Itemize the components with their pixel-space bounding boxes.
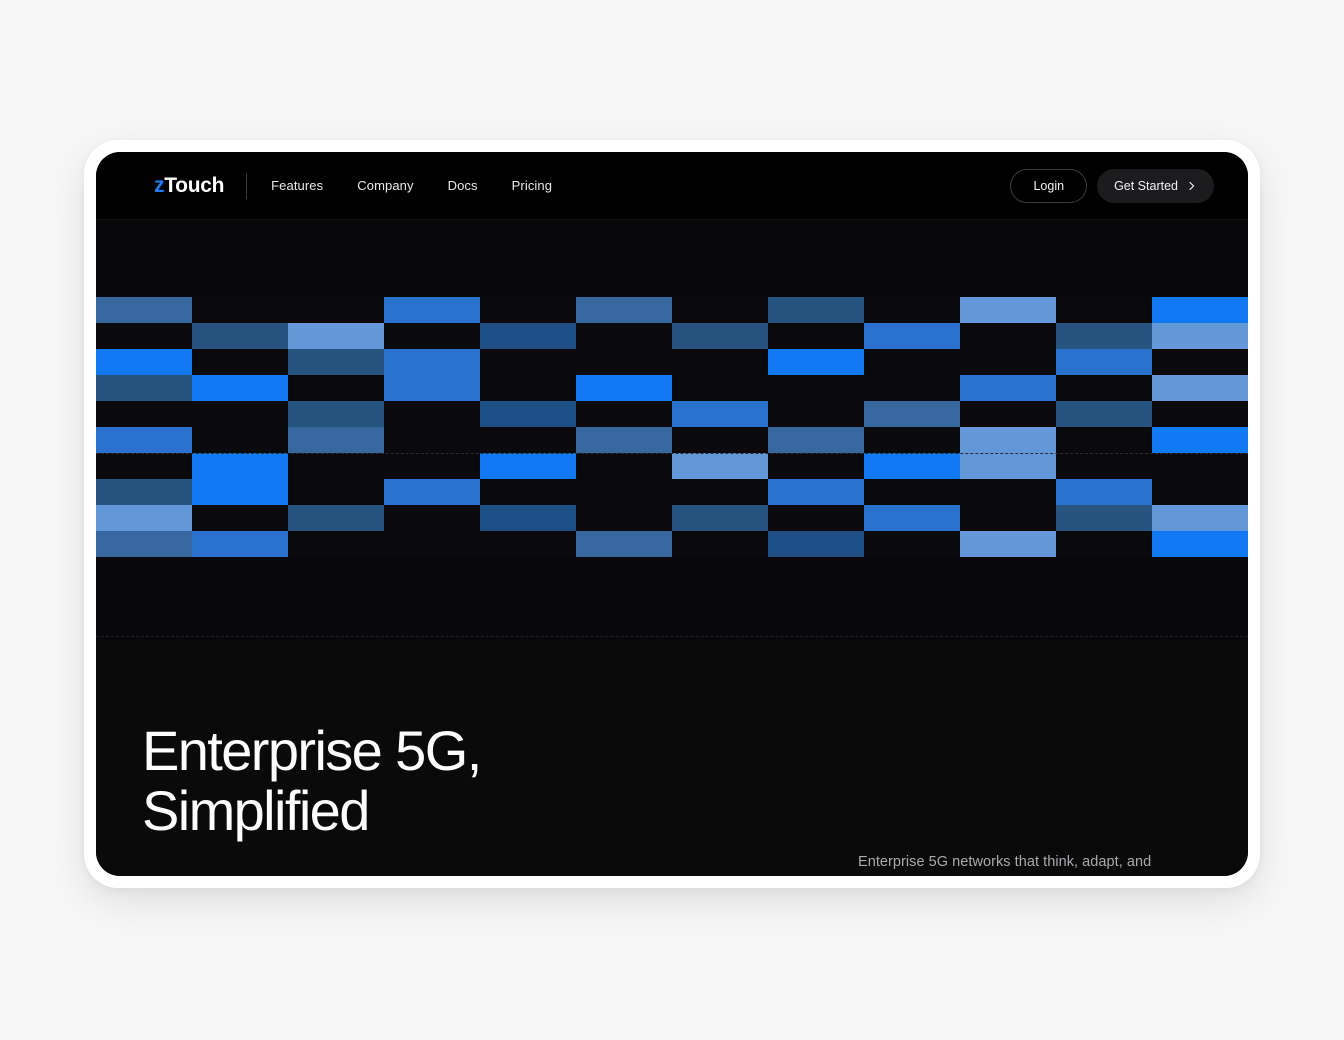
grid-cell bbox=[192, 401, 288, 427]
grid-cell bbox=[576, 453, 672, 479]
grid-cell bbox=[864, 349, 960, 375]
grid-cell bbox=[576, 401, 672, 427]
grid-cell bbox=[384, 323, 480, 349]
grid-cell bbox=[384, 479, 480, 505]
grid-cell bbox=[288, 427, 384, 453]
grid-cell bbox=[672, 427, 768, 453]
grid-cell bbox=[96, 531, 192, 557]
grid-cell bbox=[480, 479, 576, 505]
grid-cell bbox=[480, 401, 576, 427]
grid-cell bbox=[192, 375, 288, 401]
grid-cell bbox=[576, 505, 672, 531]
login-button-label: Login bbox=[1033, 179, 1064, 193]
grid-cell bbox=[672, 297, 768, 323]
grid-cell bbox=[1056, 349, 1152, 375]
grid-cell bbox=[960, 297, 1056, 323]
grid-cell bbox=[480, 375, 576, 401]
grid-cell bbox=[768, 427, 864, 453]
chevron-right-icon bbox=[1187, 181, 1197, 191]
grid-cell bbox=[96, 349, 192, 375]
grid-cell bbox=[768, 479, 864, 505]
browser-viewport: zTouch Features Company Docs Pricing Log… bbox=[96, 152, 1248, 876]
grid-cell bbox=[1056, 427, 1152, 453]
grid-cell bbox=[1152, 479, 1248, 505]
grid-dashed-divider bbox=[96, 453, 1248, 454]
grid-cell bbox=[768, 297, 864, 323]
grid-cell bbox=[480, 531, 576, 557]
grid-cell bbox=[96, 375, 192, 401]
grid-cell bbox=[768, 349, 864, 375]
nav-link-features[interactable]: Features bbox=[271, 178, 323, 193]
grid-cell bbox=[192, 505, 288, 531]
grid-cell bbox=[384, 297, 480, 323]
grid-cell bbox=[1056, 479, 1152, 505]
get-started-button[interactable]: Get Started bbox=[1097, 169, 1214, 203]
grid-cell bbox=[288, 453, 384, 479]
page-root: zTouch Features Company Docs Pricing Log… bbox=[0, 0, 1344, 1040]
grid-cell bbox=[672, 375, 768, 401]
grid-cell bbox=[672, 531, 768, 557]
grid-cell bbox=[96, 427, 192, 453]
grid-cell bbox=[480, 505, 576, 531]
brand-logo[interactable]: zTouch bbox=[154, 174, 224, 198]
grid-cell bbox=[768, 531, 864, 557]
grid-cell bbox=[768, 453, 864, 479]
grid-cell bbox=[864, 297, 960, 323]
nav-link-pricing[interactable]: Pricing bbox=[512, 178, 552, 193]
grid-cell bbox=[1152, 349, 1248, 375]
grid-cell bbox=[864, 375, 960, 401]
grid-cell bbox=[672, 349, 768, 375]
grid-cell bbox=[768, 375, 864, 401]
grid-cell bbox=[384, 531, 480, 557]
brand-logo-text: Touch bbox=[164, 174, 224, 197]
login-button[interactable]: Login bbox=[1010, 169, 1087, 203]
grid-cell bbox=[480, 323, 576, 349]
grid-cell bbox=[288, 479, 384, 505]
grid-cell bbox=[864, 531, 960, 557]
grid-cell bbox=[960, 323, 1056, 349]
nav-actions: Login Get Started bbox=[1010, 169, 1214, 203]
grid-cell bbox=[1152, 505, 1248, 531]
grid-cell bbox=[192, 531, 288, 557]
grid-cell bbox=[576, 349, 672, 375]
hero-right-column: Enterprise 5G networks that think, adapt… bbox=[858, 852, 1206, 876]
grid-cell bbox=[1152, 323, 1248, 349]
section-dashed-divider bbox=[96, 636, 1248, 637]
get-started-button-label: Get Started bbox=[1114, 179, 1178, 193]
grid-cell bbox=[192, 479, 288, 505]
grid-cell bbox=[768, 323, 864, 349]
grid-cell bbox=[480, 297, 576, 323]
grid-cell bbox=[96, 479, 192, 505]
grid-cell bbox=[672, 479, 768, 505]
grid-cell bbox=[960, 453, 1056, 479]
grid-cell bbox=[864, 323, 960, 349]
grid-cell bbox=[384, 427, 480, 453]
grid-cell bbox=[1056, 375, 1152, 401]
grid-cell bbox=[384, 401, 480, 427]
grid-cell bbox=[1152, 297, 1248, 323]
grid-cell bbox=[192, 323, 288, 349]
grid-cell bbox=[864, 479, 960, 505]
grid-cell bbox=[960, 479, 1056, 505]
grid-cell bbox=[96, 401, 192, 427]
grid-cell bbox=[960, 427, 1056, 453]
grid-cell bbox=[1056, 323, 1152, 349]
grid-cell bbox=[288, 375, 384, 401]
grid-cell bbox=[96, 297, 192, 323]
grid-cell bbox=[864, 427, 960, 453]
grid-cell bbox=[576, 323, 672, 349]
grid-cell bbox=[1056, 401, 1152, 427]
grid-cell bbox=[864, 453, 960, 479]
grid-cell bbox=[1056, 505, 1152, 531]
grid-cell bbox=[576, 297, 672, 323]
grid-cell bbox=[288, 505, 384, 531]
grid-cell bbox=[96, 505, 192, 531]
hero-subcopy: Enterprise 5G networks that think, adapt… bbox=[858, 852, 1206, 876]
grid-cell bbox=[768, 401, 864, 427]
grid-cell bbox=[960, 375, 1056, 401]
grid-cell bbox=[384, 453, 480, 479]
grid-cell bbox=[288, 531, 384, 557]
grid-cell bbox=[384, 349, 480, 375]
hero-content: Enterprise 5G, Simplified Enterprise 5G … bbox=[96, 640, 1248, 876]
page-title: Enterprise 5G, Simplified bbox=[142, 721, 481, 842]
nav-link-company[interactable]: Company bbox=[357, 178, 413, 193]
grid-cell bbox=[864, 401, 960, 427]
grid-cell bbox=[96, 323, 192, 349]
grid-cell bbox=[384, 375, 480, 401]
grid-cell bbox=[288, 323, 384, 349]
grid-cell bbox=[960, 531, 1056, 557]
nav-link-docs[interactable]: Docs bbox=[448, 178, 478, 193]
grid-cell bbox=[96, 453, 192, 479]
nav-divider bbox=[246, 173, 247, 199]
grid-cell bbox=[192, 349, 288, 375]
grid-cell bbox=[672, 401, 768, 427]
top-navbar: zTouch Features Company Docs Pricing Log… bbox=[96, 152, 1248, 220]
grid-cell bbox=[576, 427, 672, 453]
grid-cell bbox=[1152, 375, 1248, 401]
grid-cell bbox=[1152, 427, 1248, 453]
grid-cell bbox=[288, 349, 384, 375]
grid-cell bbox=[1152, 401, 1248, 427]
hero-visual bbox=[96, 220, 1248, 640]
pixel-grid bbox=[96, 297, 1248, 557]
grid-cell bbox=[192, 297, 288, 323]
grid-cell bbox=[576, 375, 672, 401]
grid-cell bbox=[576, 479, 672, 505]
grid-cell bbox=[480, 349, 576, 375]
grid-cell bbox=[768, 505, 864, 531]
grid-cell bbox=[192, 453, 288, 479]
grid-cell bbox=[576, 531, 672, 557]
grid-cell bbox=[1056, 297, 1152, 323]
grid-cell bbox=[960, 505, 1056, 531]
grid-cell bbox=[1152, 531, 1248, 557]
grid-cell bbox=[864, 505, 960, 531]
brand-logo-accent: z bbox=[154, 174, 164, 197]
grid-cell bbox=[288, 297, 384, 323]
grid-cell bbox=[384, 505, 480, 531]
grid-cell bbox=[192, 427, 288, 453]
grid-cell bbox=[1056, 531, 1152, 557]
grid-cell bbox=[288, 401, 384, 427]
grid-cell bbox=[960, 401, 1056, 427]
grid-cell bbox=[480, 453, 576, 479]
grid-cell bbox=[672, 323, 768, 349]
grid-cell bbox=[672, 453, 768, 479]
nav-links: Features Company Docs Pricing bbox=[271, 178, 552, 193]
grid-cell bbox=[480, 427, 576, 453]
grid-cell bbox=[1056, 453, 1152, 479]
grid-cell bbox=[960, 349, 1056, 375]
grid-cell bbox=[1152, 453, 1248, 479]
grid-cell bbox=[672, 505, 768, 531]
